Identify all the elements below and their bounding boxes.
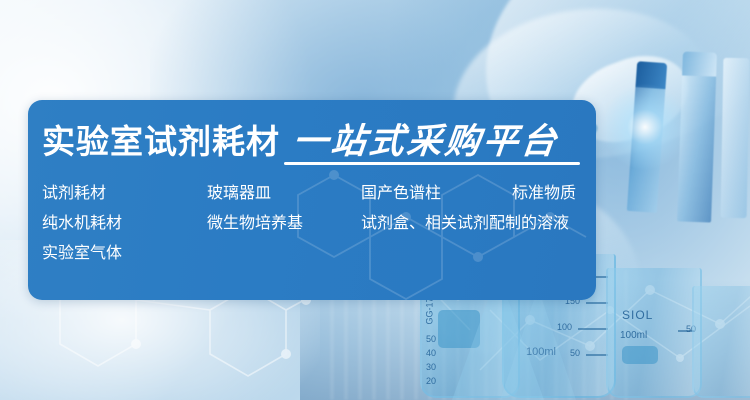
beaker-graduation — [586, 302, 608, 304]
headline-row: 实验室试剂耗材 一站式采购平台 — [42, 117, 586, 165]
headline-panel-inner: 实验室试剂耗材 一站式采购平台 试剂耗材 玻璃器皿 国产色谱柱 标准物质 纯水机… — [28, 100, 596, 300]
category-row: 试剂耗材 玻璃器皿 国产色谱柱 标准物质 — [42, 179, 588, 209]
category-item[interactable]: 实验室气体 — [42, 239, 122, 269]
beaker-graduation — [578, 328, 608, 330]
headline-panel: 实验室试剂耗材 一站式采购平台 试剂耗材 玻璃器皿 国产色谱柱 标准物质 纯水机… — [28, 100, 596, 300]
sample-vial-light — [677, 51, 717, 222]
beaker-marking: 30 — [426, 362, 436, 372]
sample-vial-back — [721, 58, 750, 218]
vial-cap — [682, 51, 717, 76]
beaker-marking: 50 — [426, 334, 436, 344]
promo-banner: 50 40 30 20 GG-17 APPROX 200 150 100 50 … — [0, 0, 750, 400]
beaker-marking: 50 — [686, 324, 696, 334]
category-grid: 试剂耗材 玻璃器皿 国产色谱柱 标准物质 纯水机耗材 微生物培养基 试剂盒、相关… — [42, 179, 588, 269]
vial-cap — [635, 61, 667, 89]
flask-cone-right — [500, 288, 576, 400]
category-item[interactable]: 标准物质 — [512, 179, 576, 209]
beaker-slow-label: SIOL — [622, 308, 653, 322]
sample-vial-dark — [627, 61, 667, 213]
beaker-right: SIOL 100ml 50 — [606, 268, 702, 398]
beaker-graduation — [678, 330, 694, 332]
category-row: 实验室气体 — [42, 239, 588, 269]
category-item[interactable]: 试剂耗材 — [42, 179, 106, 209]
beaker-volume-label: 100ml — [620, 330, 647, 341]
beaker-brand-label: GG-17 — [425, 297, 435, 324]
headline-underline — [284, 162, 580, 165]
beaker-marking: 20 — [426, 376, 436, 386]
beaker-graduation — [586, 354, 608, 356]
category-item[interactable]: 国产色谱柱 — [361, 179, 441, 209]
category-item[interactable]: 纯水机耗材 — [42, 209, 122, 239]
category-item[interactable]: 微生物培养基 — [207, 209, 303, 239]
headline-primary: 实验室试剂耗材 — [42, 125, 280, 158]
headline-secondary: 一站式采购平台 — [291, 124, 561, 159]
category-item[interactable]: 玻璃器皿 — [207, 179, 271, 209]
category-item[interactable]: 试剂盒、相关试剂配制的溶液 — [361, 209, 569, 239]
beaker-far-right: 250 — [692, 286, 750, 398]
beaker-marking: 40 — [426, 348, 436, 358]
category-row: 纯水机耗材 微生物培养基 试剂盒、相关试剂配制的溶液 — [42, 209, 588, 239]
beaker-label — [622, 346, 658, 364]
